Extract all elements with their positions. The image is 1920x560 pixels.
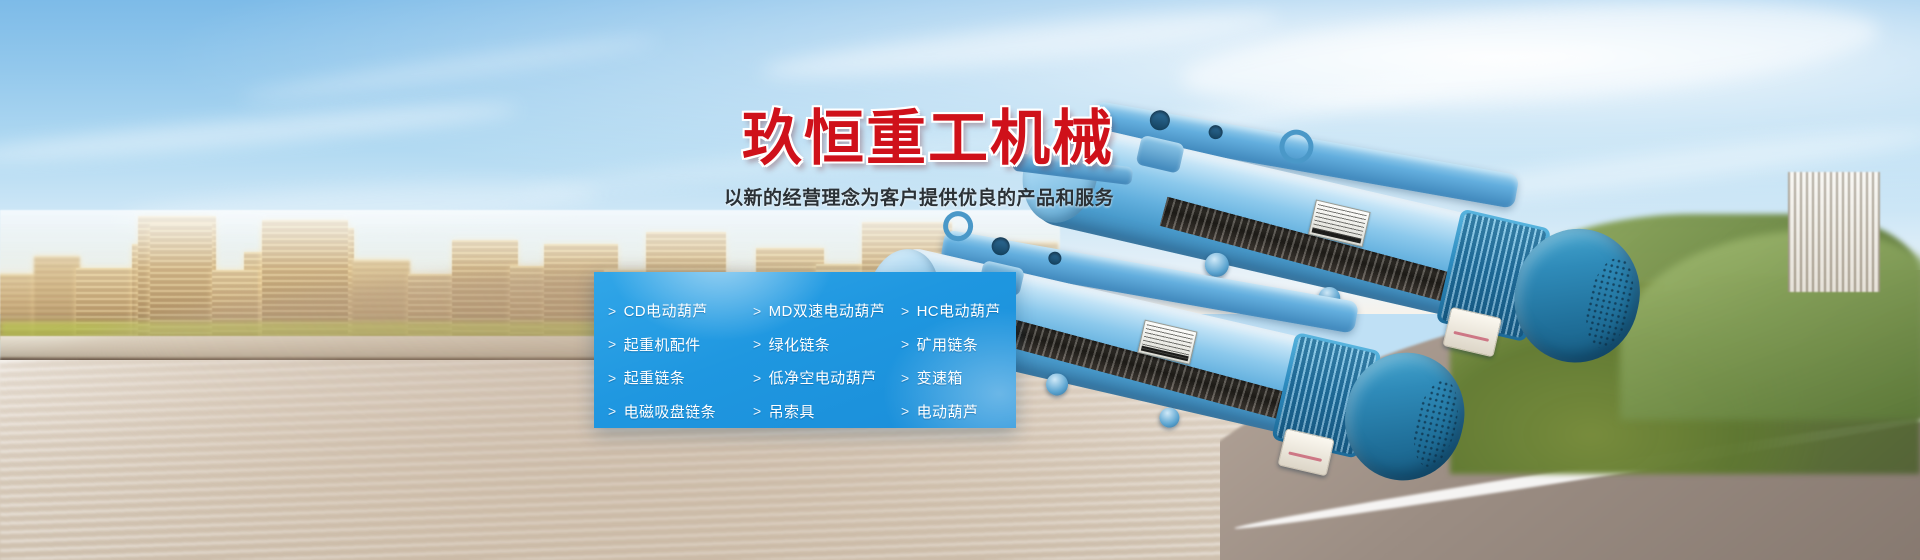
product-category-label: 电动葫芦 [917,401,979,422]
page-title: 玖恒重工机械 [594,108,1114,169]
promotional-banner: 玖恒重工机械 以新的经营理念为客户提供优良的产品和服务 >CD电动葫芦>MD双速… [0,0,1920,560]
chevron-right-icon: > [608,370,617,386]
product-category-link[interactable]: >矿用链条 [901,328,1016,361]
product-category-link[interactable]: >MD双速电动葫芦 [753,294,901,327]
product-category-label: 绿化链条 [769,334,831,355]
chevron-right-icon: > [901,303,910,319]
chevron-right-icon: > [753,336,762,352]
product-category-link[interactable]: >低净空电动葫芦 [753,361,901,394]
product-category-label: 吊索具 [769,401,815,422]
product-category-link[interactable]: >吊索具 [753,395,901,428]
product-category-label: 变速箱 [917,367,963,388]
product-category-label: CD电动葫芦 [624,300,708,321]
product-category-link[interactable]: >绿化链条 [753,328,901,361]
office-tower [1788,172,1880,292]
chevron-right-icon: > [753,370,762,386]
product-category-link[interactable]: >起重机配件 [608,328,753,361]
chevron-right-icon: > [901,370,910,386]
page-subtitle: 以新的经营理念为客户提供优良的产品和服务 [594,183,1114,210]
product-category-link[interactable]: >电磁吸盘链条 [608,395,753,428]
product-category-label: 矿用链条 [917,334,979,355]
product-category-label: MD双速电动葫芦 [769,300,886,321]
product-category-link[interactable]: >HC电动葫芦 [901,294,1016,327]
product-category-link[interactable]: >电动葫芦 [901,395,1016,428]
product-category-label: 低净空电动葫芦 [769,367,877,388]
product-category-label: HC电动葫芦 [917,300,1001,321]
cloud-wisp [241,31,659,107]
product-category-label: 电磁吸盘链条 [624,401,716,422]
chevron-right-icon: > [608,336,617,352]
chevron-right-icon: > [753,303,762,319]
chevron-right-icon: > [753,403,762,419]
product-category-link[interactable]: >CD电动葫芦 [608,294,753,327]
product-category-label: 起重链条 [624,367,686,388]
headline-block: 玖恒重工机械 以新的经营理念为客户提供优良的产品和服务 [594,108,1114,210]
cloud-wisp [0,96,520,171]
chevron-right-icon: > [901,336,910,352]
product-category-box: >CD电动葫芦>MD双速电动葫芦>HC电动葫芦>起重机配件>绿化链条>矿用链条>… [594,272,1016,428]
product-category-link[interactable]: >变速箱 [901,361,1016,394]
product-category-label: 起重机配件 [624,334,701,355]
product-category-link[interactable]: >起重链条 [608,361,753,394]
chevron-right-icon: > [608,403,617,419]
chevron-right-icon: > [901,403,910,419]
chevron-right-icon: > [608,303,617,319]
product-category-grid: >CD电动葫芦>MD双速电动葫芦>HC电动葫芦>起重机配件>绿化链条>矿用链条>… [594,286,1016,428]
